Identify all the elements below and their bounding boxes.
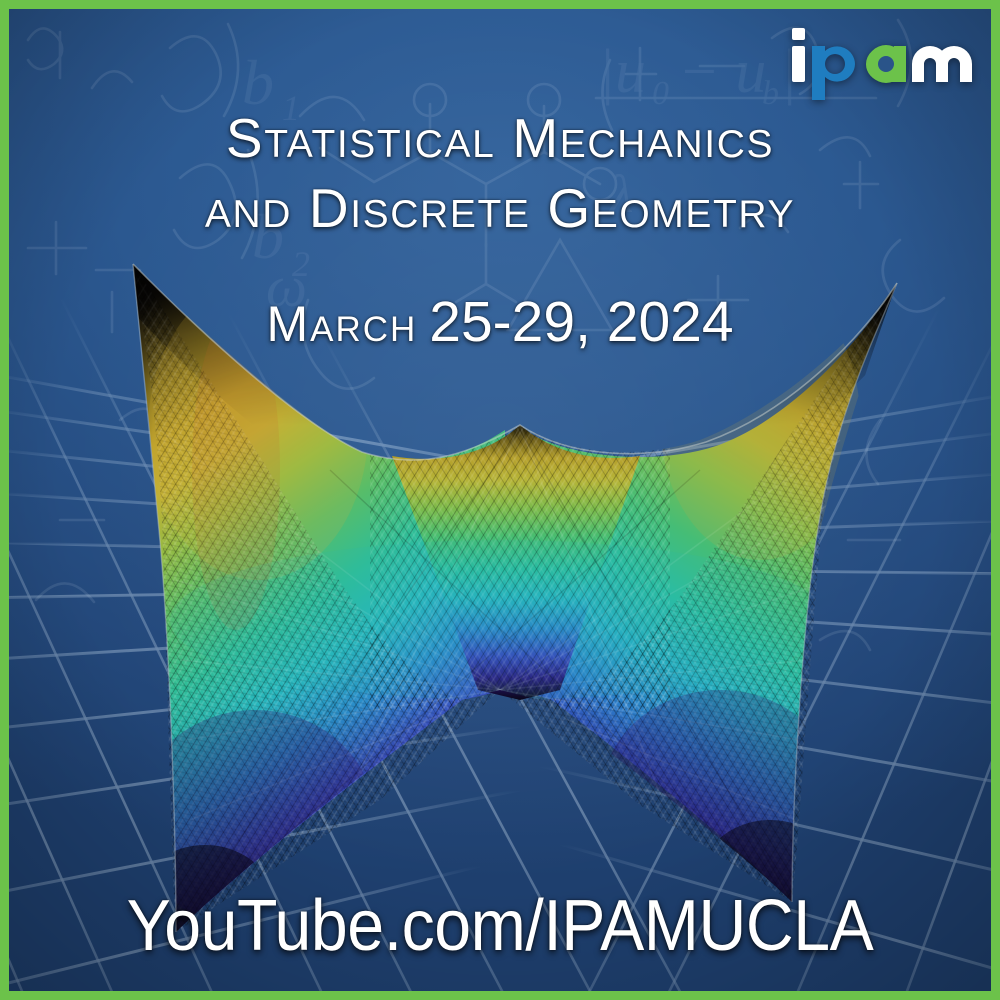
title-line-2: and Discrete Geometry [0,173,1000,243]
ipam-logo[interactable] [790,22,972,100]
title-line-1: Statistical Mechanics [0,103,1000,173]
event-days-year: 25-29, 2024 [429,290,733,354]
youtube-url[interactable]: YouTube.com/IPAMUCLA [40,886,960,966]
event-month: March [266,296,417,352]
poster-canvas: |u 0 − u b | b 1 b 2 ω λ [0,0,1000,1000]
event-date: March25-29, 2024 [0,293,1000,353]
page-title: Statistical Mechanics and Discrete Geome… [0,103,1000,243]
